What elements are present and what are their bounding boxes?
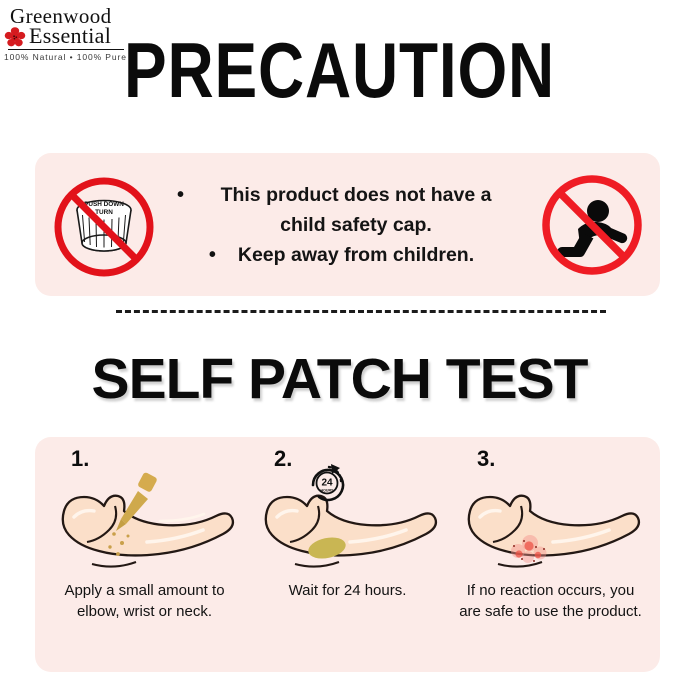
bullet-marker: • bbox=[177, 180, 184, 210]
bullet-marker: • bbox=[209, 240, 216, 270]
patch-test-steps: 1. bbox=[35, 437, 660, 672]
step-number: 1. bbox=[71, 447, 89, 471]
precaution-bullet-2: • Keep away from children. bbox=[163, 240, 534, 270]
no-children-icon bbox=[538, 171, 646, 279]
arm-with-rash-icon bbox=[458, 469, 643, 574]
timer-unit: HOURS bbox=[321, 489, 335, 493]
arm-with-dropper-icon bbox=[52, 469, 237, 574]
flower-icon bbox=[4, 26, 26, 48]
timer-value: 24 bbox=[321, 478, 333, 489]
patch-test-title: SELF PATCH TEST bbox=[0, 348, 679, 410]
patch-step-1: 1. bbox=[43, 447, 246, 664]
precaution-content: PUSH DOWN TURN • This product does not h… bbox=[35, 153, 660, 296]
step-caption: Wait for 24 hours. bbox=[279, 580, 417, 601]
cap-label-push-down: PUSH DOWN bbox=[84, 201, 124, 208]
step-caption: If no reaction occurs, you are safe to u… bbox=[449, 580, 652, 622]
step-number: 2. bbox=[274, 447, 292, 471]
precaution-title: PRECAUTION bbox=[61, 30, 618, 110]
step-caption: Apply a small amount to elbow, wrist or … bbox=[43, 580, 246, 622]
precaution-bullet-list: • This product does not have a child saf… bbox=[159, 180, 538, 270]
arm-with-timer-icon: 24 HOURS bbox=[255, 469, 440, 574]
patch-step-3: 3. bbox=[449, 447, 652, 664]
step-number: 3. bbox=[477, 447, 495, 471]
patch-step-2: 2. 24 HOURS Wait for 24 hours. bbox=[246, 447, 449, 664]
section-divider bbox=[116, 310, 606, 313]
precaution-bullet-1: • This product does not have a child saf… bbox=[163, 180, 534, 240]
precaution-bullet-2-text: Keep away from children. bbox=[238, 240, 474, 270]
precaution-bullet-1-text: This product does not have a child safet… bbox=[206, 180, 506, 240]
no-child-safety-cap-icon: PUSH DOWN TURN bbox=[49, 170, 159, 280]
cap-label-turn: TURN bbox=[95, 209, 113, 216]
